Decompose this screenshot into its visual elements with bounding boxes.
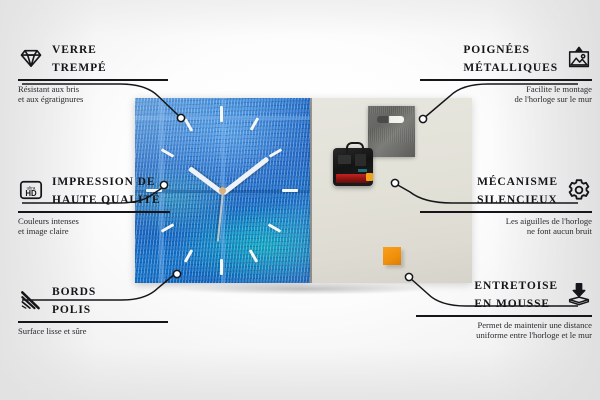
svg-text:HD: HD xyxy=(25,189,37,198)
hour-tick xyxy=(282,189,298,192)
callout-mecanisme-silencieux[interactable]: MÉCANISME SILENCIEUX Les aiguilles de l'… xyxy=(420,172,592,236)
callout-desc-line2: uniforme entre l'horloge et le mur xyxy=(476,330,592,340)
panel-seam xyxy=(310,98,312,283)
polished-edges-icon xyxy=(18,287,44,313)
callout-title-line1: IMPRESSION DE xyxy=(52,176,155,188)
callout-title-line1: POIGNÉES xyxy=(463,44,530,56)
callout-description: Facilite le montage de l'horloge sur le … xyxy=(420,84,592,105)
callout-header: BORDS POLIS xyxy=(18,282,168,318)
diamond-icon xyxy=(18,45,44,71)
callout-desc-line1: Les aiguilles de l'horloge xyxy=(506,216,592,226)
callout-desc-line1: Facilite le montage xyxy=(526,84,592,94)
callout-desc-line1: Couleurs intenses xyxy=(18,216,79,226)
callout-rule xyxy=(18,79,168,81)
callout-description: Résistant aux bris et aux égratignures xyxy=(18,84,168,105)
callout-header: ultra HD IMPRESSION DE HAUTE QUALITÉ xyxy=(18,172,170,208)
callout-title-line2: MÉTALLIQUES xyxy=(463,62,558,74)
callout-rule xyxy=(420,79,592,81)
callout-title: BORDS POLIS xyxy=(52,282,96,318)
callout-desc-line2: et image claire xyxy=(18,226,69,236)
callout-description: Les aiguilles de l'horloge ne font aucun… xyxy=(420,216,592,237)
callout-title: VERRE TREMPÉ xyxy=(52,40,107,76)
callout-desc-line2: et aux égratignures xyxy=(18,94,83,104)
ultra-hd-badge-icon: ultra HD xyxy=(18,177,44,203)
callout-bords-polis[interactable]: BORDS POLIS Surface lisse et sûre xyxy=(18,282,168,336)
battery xyxy=(336,174,369,183)
callout-rule xyxy=(18,211,170,213)
battery-plus-terminal xyxy=(366,173,373,181)
infographic-canvas: VERRE TREMPÉ Résistant aux bris et aux é… xyxy=(0,0,600,400)
callout-title-line2: SILENCIEUX xyxy=(477,194,558,206)
mechanism-detail xyxy=(338,155,351,164)
callout-desc-line1: Permet de maintenir une distance xyxy=(477,320,592,330)
callout-title-line2: TREMPÉ xyxy=(52,62,107,74)
callout-rule xyxy=(18,321,168,323)
clock-hand-cap xyxy=(219,187,226,194)
hour-tick xyxy=(220,259,223,275)
callout-desc-line2: de l'horloge sur le mur xyxy=(515,94,592,104)
callout-title: POIGNÉES MÉTALLIQUES xyxy=(463,40,558,76)
callout-desc-line1: Surface lisse et sûre xyxy=(18,326,87,336)
metal-hanging-bracket xyxy=(368,106,415,157)
callout-title-line2: POLIS xyxy=(52,304,91,316)
callout-title-line2: HAUTE QUALITÉ xyxy=(52,194,161,206)
callout-title-line1: ENTRETOISE xyxy=(474,280,558,292)
callout-title-line1: BORDS xyxy=(52,286,96,298)
mechanism-detail xyxy=(355,154,366,166)
callout-description: Couleurs intenses et image claire xyxy=(18,216,170,237)
callout-title-line2: EN MOUSSE xyxy=(474,298,550,310)
callout-description: Permet de maintenir une distance uniform… xyxy=(416,320,592,341)
callout-title: ENTRETOISE EN MOUSSE xyxy=(474,276,558,312)
callout-desc-line2: ne font aucun bruit xyxy=(527,226,592,236)
callout-entretoise-en-mousse[interactable]: ENTRETOISE EN MOUSSE Permet de maintenir… xyxy=(416,276,592,340)
gear-icon xyxy=(566,177,592,203)
callout-title: IMPRESSION DE HAUTE QUALITÉ xyxy=(52,172,161,208)
callout-rule xyxy=(416,315,592,317)
callout-header: MÉCANISME SILENCIEUX xyxy=(420,172,592,208)
hour-tick xyxy=(220,106,223,122)
callout-impression-haute-qualite[interactable]: ultra HD IMPRESSION DE HAUTE QUALITÉ Cou… xyxy=(18,172,170,236)
callout-description: Surface lisse et sûre xyxy=(18,326,168,336)
callout-poignees-metalliques[interactable]: POIGNÉES MÉTALLIQUES Facilite le montage… xyxy=(420,40,592,104)
callout-rule xyxy=(420,211,592,213)
callout-header: POIGNÉES MÉTALLIQUES xyxy=(420,40,592,76)
mechanism-hook xyxy=(346,142,364,153)
callout-title-line1: MÉCANISME xyxy=(477,176,558,188)
mechanism-detail xyxy=(358,169,367,172)
foam-spacer-press-icon xyxy=(566,281,592,307)
picture-frame-hanger-icon xyxy=(566,45,592,71)
callout-verre-trempe[interactable]: VERRE TREMPÉ Résistant aux bris et aux é… xyxy=(18,40,168,104)
quartz-mechanism xyxy=(333,148,373,186)
callout-desc-line1: Résistant aux bris xyxy=(18,84,79,94)
callout-header: VERRE TREMPÉ xyxy=(18,40,168,76)
bracket-slot xyxy=(377,116,404,123)
foam-spacer xyxy=(383,247,401,265)
callout-title: MÉCANISME SILENCIEUX xyxy=(477,172,558,208)
callout-header: ENTRETOISE EN MOUSSE xyxy=(416,276,592,312)
callout-title-line1: VERRE xyxy=(52,44,97,56)
